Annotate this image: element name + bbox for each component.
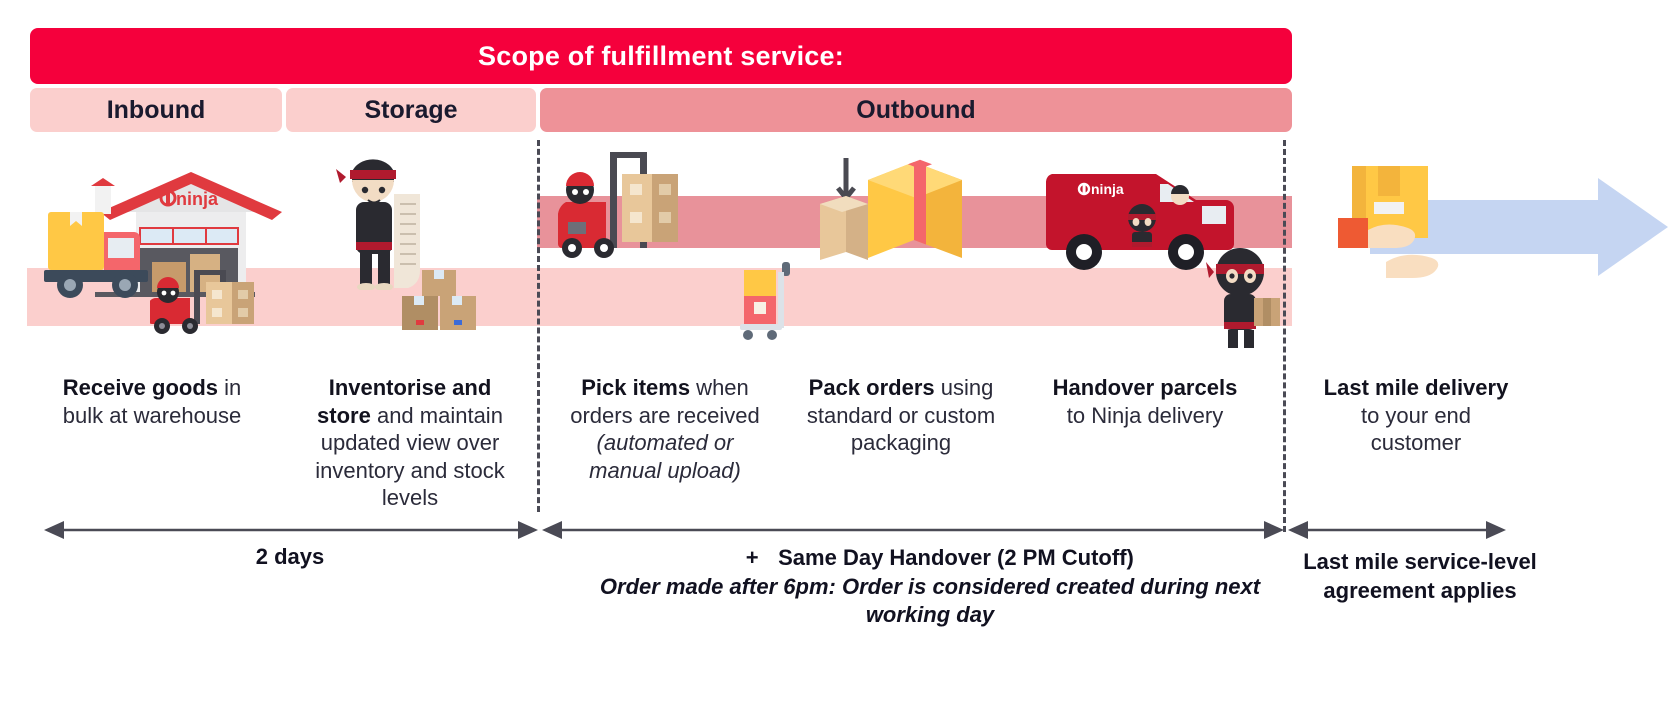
phase-row: Inbound Storage Outbound xyxy=(30,88,1292,132)
timeline-arrows xyxy=(0,508,1674,548)
caption-pick-italic: (automated or manual upload) xyxy=(589,430,741,483)
timeline-label-inbound-duration: 2 days xyxy=(45,544,535,570)
timeline-label-lastmile: Last mile service-level agreement applie… xyxy=(1290,548,1550,605)
timeline-plus-symbol: + xyxy=(726,544,778,573)
phase-label-inbound: Inbound xyxy=(107,96,206,125)
caption-handover-bold: Handover parcels xyxy=(1053,375,1238,400)
caption-handover-rest: to Ninja delivery xyxy=(1067,403,1224,428)
phase-box-outbound[interactable]: Outbound xyxy=(540,88,1292,132)
caption-inventorise: Inventorise and store and maintain updat… xyxy=(312,374,508,512)
hand-trolley-icon xyxy=(736,262,798,340)
phase-label-outbound: Outbound xyxy=(856,96,975,125)
caption-pack-bold: Pack orders xyxy=(809,375,935,400)
caption-pack: Pack orders using standard or custom pac… xyxy=(806,374,996,457)
stacked-boxes-icon xyxy=(400,268,482,332)
outbound-end-divider xyxy=(1283,140,1286,532)
scope-banner: Scope of fulfillment service: xyxy=(30,28,1292,84)
phase-label-storage: Storage xyxy=(364,96,457,125)
phase-box-inbound[interactable]: Inbound xyxy=(30,88,282,132)
fulfillment-scope-infographic: Scope of fulfillment service: Inbound St… xyxy=(0,0,1674,702)
caption-pick-bold: Pick items xyxy=(581,375,690,400)
caption-receive: Receive goods in bulk at warehouse xyxy=(42,374,262,429)
hand-parcel-icon xyxy=(1330,162,1490,284)
timeline-outbound-main: Same Day Handover (2 PM Cutoff) xyxy=(778,545,1134,570)
caption-lastmile-bold: Last mile delivery xyxy=(1324,375,1509,400)
caption-handover: Handover parcels to Ninja delivery xyxy=(1052,374,1238,429)
forklift-inbound-icon xyxy=(150,262,260,334)
timeline-outbound-note: Order made after 6pm: Order is considere… xyxy=(560,573,1300,630)
forklift-icon xyxy=(558,150,708,258)
svg-text:ninja: ninja xyxy=(176,189,219,209)
timeline-label-outbound: +Same Day Handover (2 PM Cutoff) Order m… xyxy=(560,544,1300,630)
ninja-courier-icon xyxy=(1206,242,1282,348)
caption-receive-bold: Receive goods xyxy=(63,375,218,400)
caption-pick: Pick items when orders are received (aut… xyxy=(566,374,764,484)
packing-box-icon xyxy=(810,152,978,280)
outbound-start-divider xyxy=(537,140,540,512)
phase-box-storage[interactable]: Storage xyxy=(286,88,536,132)
caption-lastmile-rest: to your end customer xyxy=(1361,403,1471,456)
svg-text:ninja: ninja xyxy=(1091,181,1124,197)
scope-banner-title: Scope of fulfillment service: xyxy=(478,41,844,72)
caption-lastmile: Last mile delivery to your end customer xyxy=(1318,374,1514,457)
timeline-outbound-main-row: +Same Day Handover (2 PM Cutoff) xyxy=(560,544,1300,573)
